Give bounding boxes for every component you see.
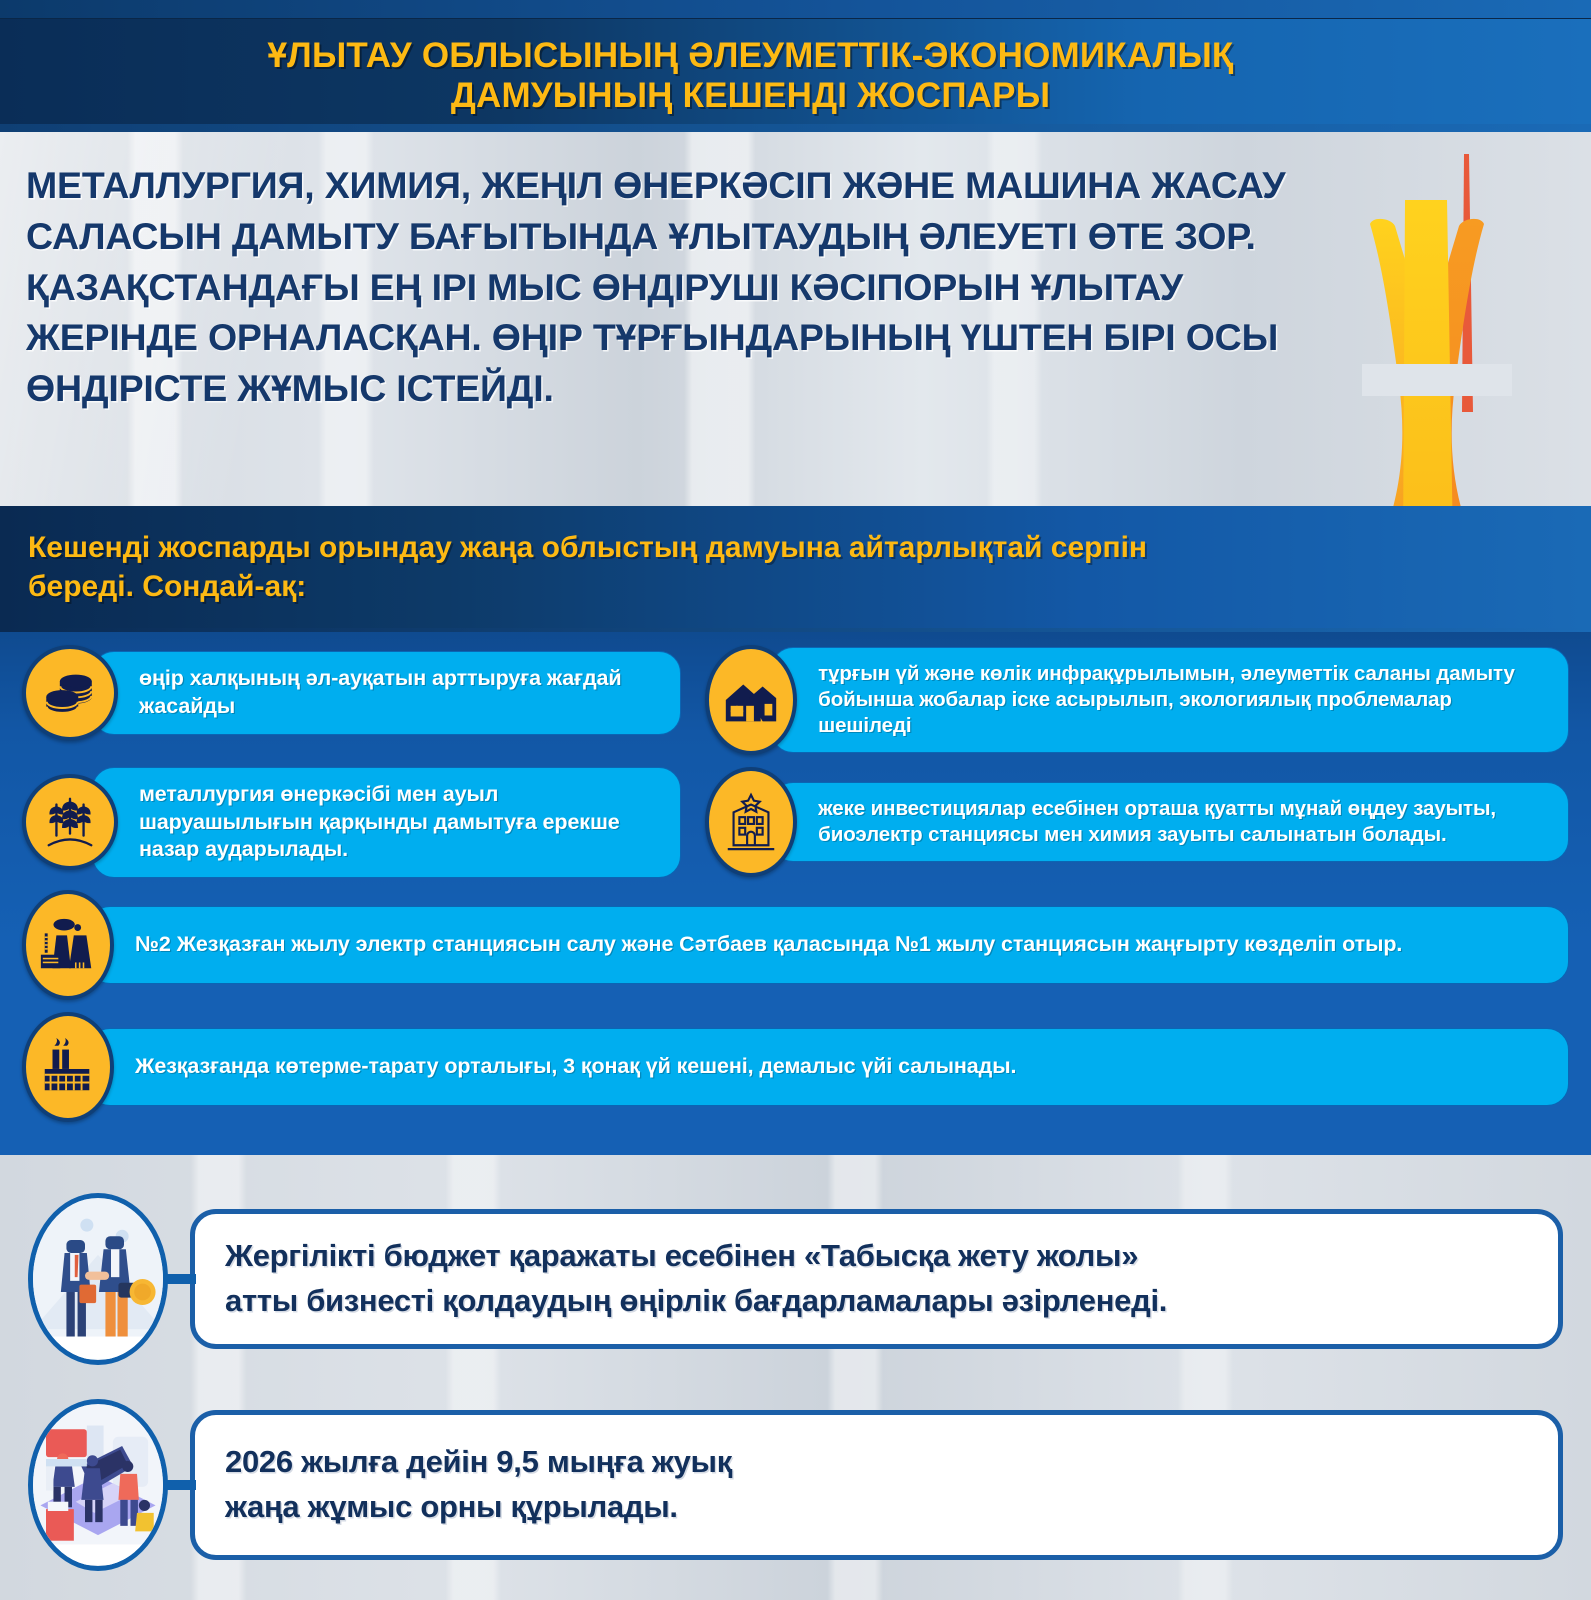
benefit-card-text: №2 Жезқазған жылу электр станциясын салу…: [88, 906, 1569, 984]
benefit-card[interactable]: №2 Жезқазған жылу электр станциясын салу…: [22, 890, 1569, 1000]
intro-section: МЕТАЛЛУРГИЯ, ХИМИЯ, ЖЕҢІЛ ӨНЕРКӘСІП ЖӘНЕ…: [0, 132, 1591, 506]
highlights-area: Жергілікті бюджет қаражаты есебінен «Таб…: [0, 1155, 1591, 1600]
highlight-card-line2: атты бизнесті қолдаудың өңірлік бағдарла…: [225, 1279, 1528, 1324]
highlight-card-line2: жаңа жұмыс орны құрылады.: [225, 1485, 1528, 1530]
connector-line: [164, 1274, 196, 1284]
highlight-card-line1: 2026 жылға дейін 9,5 мыңға жуық: [225, 1440, 1528, 1485]
highlight-card: 2026 жылға дейін 9,5 мыңға жуық жаңа жұм…: [190, 1410, 1563, 1560]
highlight-card: Жергілікті бюджет қаражаты есебінен «Таб…: [190, 1209, 1563, 1349]
office-teamwork-illustration-icon: [28, 1399, 168, 1571]
benefit-card-text: жеке инвестициялар есебінен орташа қуатт…: [771, 782, 1569, 862]
benefit-card[interactable]: Жезқазғанда көтерме-тарату орталығы, 3 қ…: [22, 1012, 1569, 1122]
page-title-line1: ҰЛЫТАУ ОБЛЫСЫНЫҢ ӘЛЕУМЕТТІК-ЭКОНОМИКАЛЫҚ: [268, 36, 1234, 75]
industrial-plant-icon: [22, 1012, 114, 1122]
infographic-page: ҰЛЫТАУ ОБЛЫСЫНЫҢ ӘЛЕУМЕТТІК-ЭКОНОМИКАЛЫҚ…: [0, 0, 1591, 1600]
benefit-card[interactable]: металлургия өнеркәсібі мен ауыл шаруашыл…: [22, 767, 681, 878]
intro-paragraph: МЕТАЛЛУРГИЯ, ХИМИЯ, ЖЕҢІЛ ӨНЕРКӘСІП ЖӘНЕ…: [26, 160, 1301, 414]
benefit-card[interactable]: тұрғын үй және көлік инфрақұрылымын, әле…: [705, 645, 1569, 755]
business-handshake-illustration-icon: [28, 1193, 168, 1365]
benefits-cards-area: өңір халқының әл-ауқатын арттыруға жағда…: [0, 628, 1591, 1155]
highlight-row[interactable]: Жергілікті бюджет қаражаты есебінен «Таб…: [28, 1193, 1563, 1365]
cards-row-3: №2 Жезқазған жылу электр станциясын салу…: [22, 890, 1569, 1000]
benefit-card[interactable]: жеке инвестициялар есебінен орташа қуатт…: [705, 767, 1569, 877]
page-title-line2: ДАМУЫНЫҢ КЕШЕНДІ ЖОСПАРЫ: [451, 76, 1050, 115]
header-top-strip: [0, 0, 1591, 19]
coins-stack-icon: [22, 645, 118, 741]
baiterek-monument-icon: [1257, 132, 1591, 506]
benefit-card-text: тұрғын үй және көлік инфрақұрылымын, әле…: [771, 647, 1569, 754]
factory-building-icon: [705, 767, 797, 877]
cards-row-2: металлургия өнеркәсібі мен ауыл шаруашыл…: [22, 767, 1569, 878]
benefit-card-text: металлургия өнеркәсібі мен ауыл шаруашыл…: [92, 767, 681, 878]
subtitle-text: Кешенді жоспарды орындау жаңа облыстың д…: [0, 528, 1180, 606]
highlight-row[interactable]: 2026 жылға дейін 9,5 мыңға жуық жаңа жұм…: [28, 1399, 1563, 1571]
benefit-card-text: Жезқазғанда көтерме-тарату орталығы, 3 қ…: [88, 1028, 1569, 1106]
house-building-icon: [705, 645, 797, 755]
header-banner: ҰЛЫТАУ ОБЛЫСЫНЫҢ ӘЛЕУМЕТТІК-ЭКОНОМИКАЛЫҚ…: [0, 0, 1591, 132]
wheat-ears-icon: [22, 774, 118, 870]
page-title: ҰЛЫТАУ ОБЛЫСЫНЫҢ ӘЛЕУМЕТТІК-ЭКОНОМИКАЛЫҚ…: [0, 19, 1591, 132]
benefit-card[interactable]: өңір халқының әл-ауқатын арттыруға жағда…: [22, 645, 681, 741]
power-plant-icon: [22, 890, 114, 1000]
connector-line: [164, 1480, 196, 1490]
subtitle-band: Кешенді жоспарды орындау жаңа облыстың д…: [0, 506, 1591, 628]
cards-row-4: Жезқазғанда көтерме-тарату орталығы, 3 қ…: [22, 1012, 1569, 1122]
highlight-card-line1: Жергілікті бюджет қаражаты есебінен «Таб…: [225, 1234, 1528, 1279]
cards-row-1: өңір халқының әл-ауқатын арттыруға жағда…: [22, 645, 1569, 755]
benefit-card-text: өңір халқының әл-ауқатын арттыруға жағда…: [92, 651, 681, 734]
